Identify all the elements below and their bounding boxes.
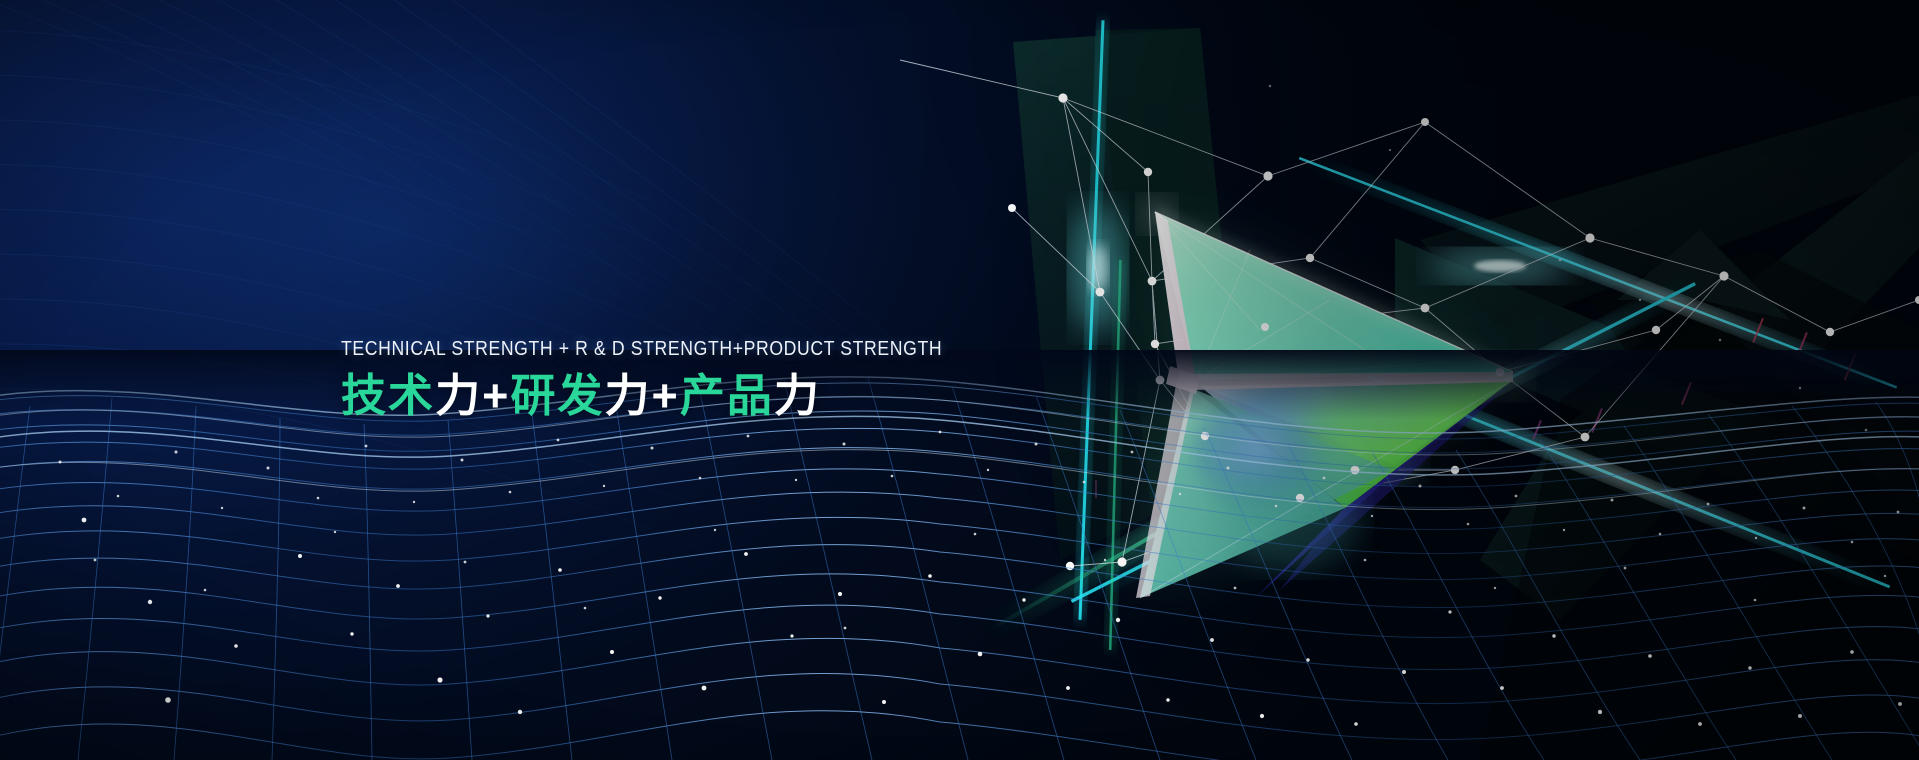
title-segment-rd-power: 力 <box>604 370 651 421</box>
hero-banner: TECHNICAL STRENGTH + R & D STRENGTH+PROD… <box>0 0 1919 760</box>
dark-geometric-slabs <box>1013 28 1919 760</box>
accent-ticks <box>1095 318 1857 498</box>
title-segment-product: 产品 <box>680 370 774 421</box>
page-title: 技术力+研发力+产品力 <box>341 370 1041 422</box>
title-segment-tech-power: 力 <box>435 370 482 421</box>
headline-block: TECHNICAL STRENGTH + R & D STRENGTH+PROD… <box>341 338 1041 422</box>
eyebrow-text: TECHNICAL STRENGTH + R & D STRENGTH+PROD… <box>341 338 943 361</box>
title-plus-1: + <box>482 370 510 421</box>
title-segment-product-power: 力 <box>774 370 821 421</box>
title-segment-tech: 技术 <box>341 370 435 421</box>
cyan-light-streaks <box>983 20 1899 650</box>
title-plus-2: + <box>652 370 680 421</box>
constellation-network <box>900 60 1919 566</box>
constellation-nodes <box>1008 93 1919 570</box>
background-curved-grid <box>0 0 1150 640</box>
arrow-polygon-3d <box>1135 196 1532 600</box>
title-segment-rd: 研发 <box>510 370 604 421</box>
wave-mesh <box>0 377 1919 760</box>
